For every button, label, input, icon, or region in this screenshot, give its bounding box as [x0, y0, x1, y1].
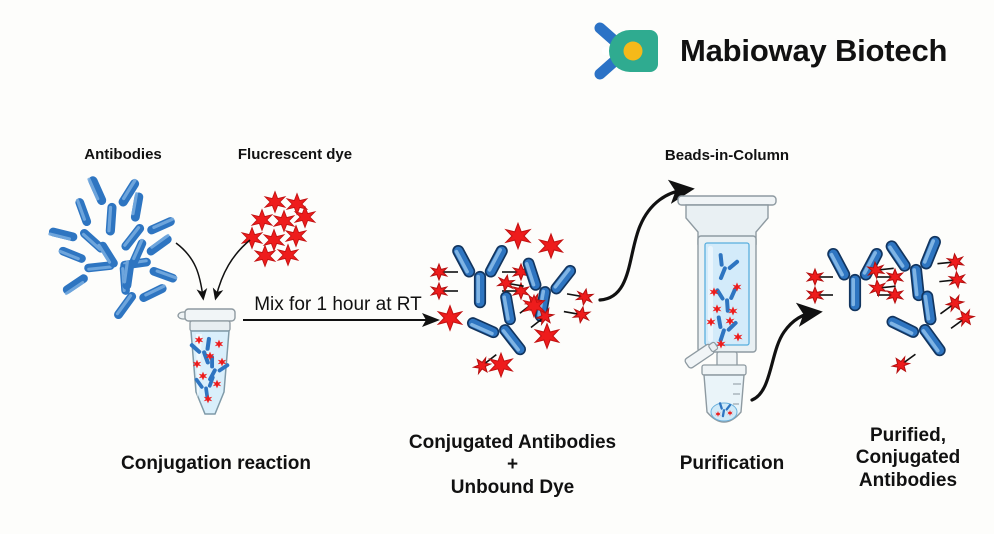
- caption-purified-line2: Conjugated: [828, 447, 988, 469]
- antibody-cluster-start: [45, 174, 179, 333]
- caption-conjugation-reaction: Conjugation reaction: [96, 453, 336, 475]
- caption-purification: Purification: [652, 453, 812, 475]
- diagram-canvas: Mabioway Biotech: [0, 0, 994, 534]
- caption-conjugated-line2: +: [400, 454, 625, 476]
- conjugated-antibodies-group: [431, 223, 597, 382]
- purified-antibodies-group: [807, 232, 981, 382]
- caption-conjugated-line1: Conjugated Antibodies: [400, 432, 625, 454]
- label-mix-arrow: Mix for 1 hour at RT: [243, 294, 433, 316]
- label-beads-in-column: Beads-in-Column: [627, 147, 827, 165]
- caption-purified-line1: Purified,: [828, 425, 988, 447]
- eppendorf-tube: [178, 309, 235, 414]
- beads-in-column: [678, 196, 776, 422]
- caption-purified-line3: Antibodies: [828, 470, 988, 492]
- caption-conjugated-unbound: Conjugated Antibodies + Unbound Dye: [400, 432, 625, 499]
- arrow-to-column: [600, 190, 684, 300]
- reagent-input-arrows: [176, 240, 250, 297]
- label-antibodies: Antibodies: [28, 146, 218, 164]
- dye-cluster-start: [242, 192, 315, 267]
- collection-tube: [702, 365, 746, 422]
- arrow-to-purified: [752, 313, 812, 400]
- label-fluorescent-dye: Flucrescent dye: [205, 146, 385, 164]
- caption-conjugated-line3: Unbound Dye: [400, 477, 625, 499]
- caption-purified-conjugated: Purified, Conjugated Antibodies: [828, 425, 988, 492]
